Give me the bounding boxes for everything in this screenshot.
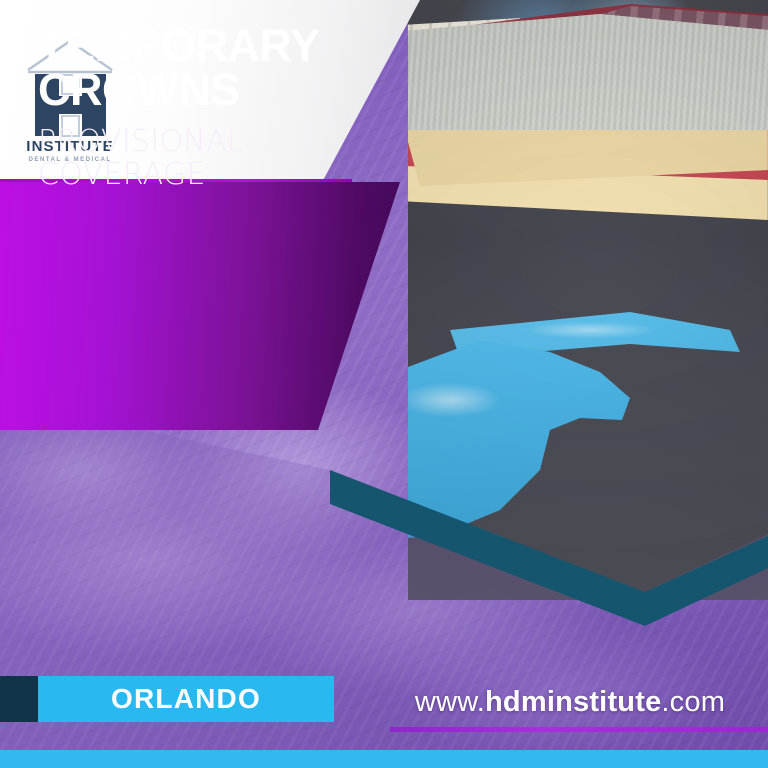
url-suffix: .com bbox=[661, 686, 725, 718]
subtitle-line-1: PROVISIONAL bbox=[38, 126, 378, 158]
city-badge[interactable]: ORLANDO bbox=[38, 676, 334, 722]
website-url[interactable]: www.hdminstitute.com bbox=[390, 686, 750, 719]
footer-dark-block bbox=[0, 676, 38, 722]
city-label: ORLANDO bbox=[111, 683, 261, 715]
subtitle-block: PROVISIONAL COVERAGE bbox=[38, 126, 378, 191]
footer-bottom-strip bbox=[0, 750, 768, 768]
url-prefix: www. bbox=[415, 686, 485, 718]
title-line-1: TEMPORARY bbox=[38, 24, 378, 68]
url-domain: hdminstitute bbox=[485, 686, 661, 718]
promotional-poster: INSTITUTE DENTAL & MEDICAL TEMPORARY CRO… bbox=[0, 0, 768, 768]
subtitle-line-2: COVERAGE bbox=[38, 159, 378, 191]
title-banner-content: TEMPORARY CROWNS PROVISIONAL COVERAGE bbox=[38, 24, 378, 191]
url-underline-rule bbox=[390, 727, 768, 732]
title-line-2: CROWNS bbox=[38, 68, 378, 112]
